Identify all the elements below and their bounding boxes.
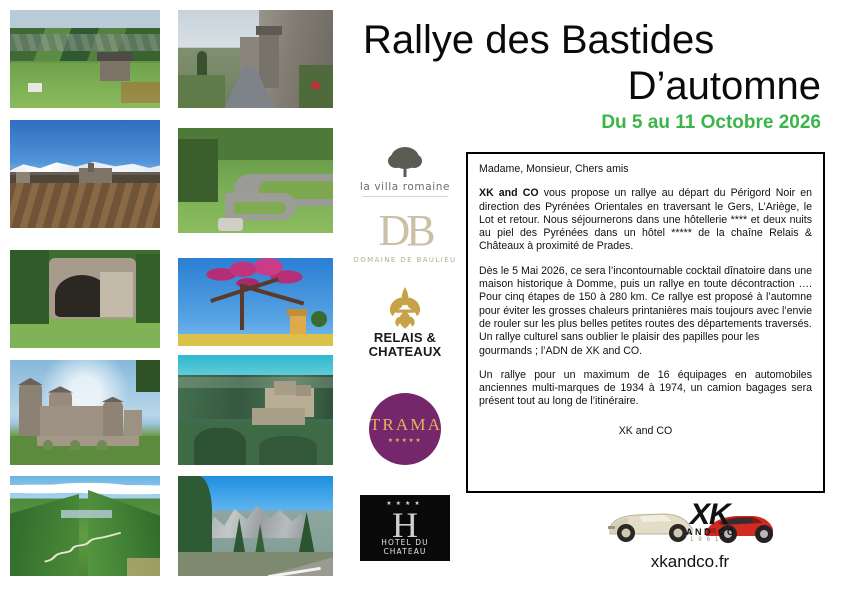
divider [362, 196, 448, 197]
sponsor-name: la villa romaine [345, 181, 465, 193]
page-title-line-2: D’automne [355, 62, 835, 110]
sponsor-name-line-2: CHATEAUX [345, 345, 465, 359]
gallery-photo [10, 250, 160, 348]
gallery-photo [178, 355, 333, 465]
gallery-photo [10, 476, 160, 576]
gallery-photo [178, 128, 333, 233]
sponsor-trama[interactable]: TRAMA ★★★★★ [345, 393, 465, 465]
star-rating: ★★★★★ [388, 437, 422, 444]
brand-word: XK [690, 500, 730, 530]
letter-paragraph-4: Un rallye pour un maximum de 16 équipage… [479, 369, 812, 409]
gallery-photo [178, 258, 333, 346]
letter-salutation: Madame, Monsieur, Chers amis [479, 163, 812, 176]
event-dates: Du 5 au 11 Octobre 2026 [355, 112, 835, 134]
trama-badge: TRAMA ★★★★★ [369, 393, 441, 465]
hotel-du-chateau-badge: ★★★★ H HOTEL DU CHATEAU [360, 495, 450, 561]
footer-brand: XK AND CO 1961 xkandco.fr [545, 498, 835, 572]
gallery-photo [10, 360, 160, 465]
fleur-de-lis-icon [345, 285, 465, 331]
sponsor-domaine-de-baulieu[interactable]: DB DOMAINE DE BAULIEU [345, 207, 465, 264]
brand-year: 1961 [690, 537, 723, 543]
photo-gallery [0, 0, 345, 595]
sponsor-name: TRAMA [368, 415, 442, 435]
sponsor-la-villa-romaine[interactable]: la villa romaine [345, 145, 465, 197]
gallery-photo [178, 476, 333, 576]
letter-paragraph-2: Dès le 5 Mai 2026, ce sera l’incontourna… [479, 265, 812, 331]
sponsor-name: HOTEL DU CHATEAU [360, 538, 450, 556]
tree-icon [345, 145, 465, 179]
website-url[interactable]: xkandco.fr [545, 552, 835, 572]
page-title-line-1: Rallye des Bastides [355, 18, 835, 62]
letter-signature: XK and CO [479, 425, 812, 438]
xk-cars-logo-icon[interactable]: XK AND CO 1961 [606, 498, 774, 546]
letter-paragraph-1: XK and CO vous propose un rallye au dépa… [479, 187, 812, 253]
sponsor-relais-et-chateaux[interactable]: RELAIS & CHATEAUX [345, 285, 465, 359]
gallery-photo [178, 10, 333, 108]
title-block: Rallye des Bastides D’automne Du 5 au 11… [355, 18, 835, 134]
gallery-photo [10, 10, 160, 108]
sponsor-name-line-1: RELAIS & [345, 331, 465, 345]
brand-subtitle: AND CO [686, 527, 737, 537]
letter-paragraph-3: Un rallye culturel sans oublier le plais… [479, 331, 812, 358]
invitation-letter: Madame, Monsieur, Chers amis XK and CO v… [466, 152, 825, 493]
sponsor-monogram: DB [345, 207, 465, 255]
sponsor-hotel-du-chateau[interactable]: ★★★★ H HOTEL DU CHATEAU [345, 495, 465, 561]
sponsor-name: DOMAINE DE BAULIEU [345, 256, 465, 264]
brand-name-inline: XK and CO [479, 187, 539, 199]
gallery-photo [10, 120, 160, 228]
sponsor-logo-column: la villa romaine DB DOMAINE DE BAULIEU R… [345, 145, 465, 595]
